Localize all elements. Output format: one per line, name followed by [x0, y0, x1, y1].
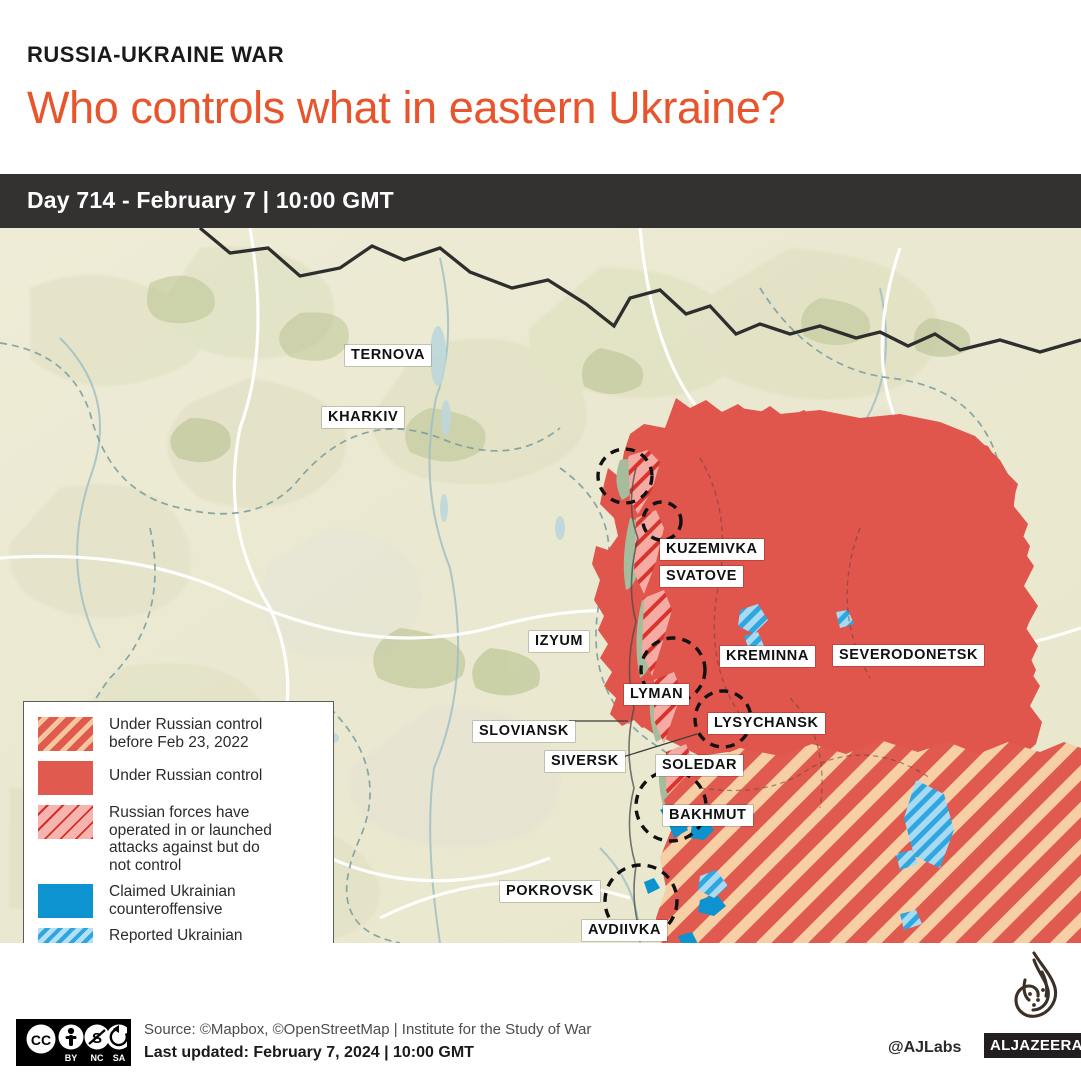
city-label-svatove[interactable]: SVATOVE — [660, 566, 743, 587]
city-label-pokrovsk[interactable]: POKROVSK — [500, 881, 600, 902]
cc-badge-icon: CC BY S NC SA — [20, 1022, 127, 1064]
legend-label-counteroffensive: Claimed Ukrainian counteroffensive — [109, 883, 236, 918]
infographic-page: RUSSIA-UKRAINE WAR Who controls what in … — [0, 0, 1081, 1081]
city-label-avdiivka[interactable]: AVDIIVKA — [582, 920, 667, 941]
page-title: Who controls what in eastern Ukraine? — [27, 82, 785, 134]
legend-item-russian-control: Under Russian control — [38, 760, 321, 795]
city-label-bakhmut[interactable]: BAKHMUT — [663, 805, 753, 826]
svg-text:SA: SA — [113, 1053, 126, 1063]
city-label-siversk[interactable]: SIVERSK — [545, 751, 625, 772]
legend-swatch-pre-feb-hatched — [38, 717, 93, 751]
legend-swatch-hatched-blue — [38, 928, 93, 943]
city-label-lysychansk[interactable]: LYSYCHANSK — [708, 713, 825, 734]
header: RUSSIA-UKRAINE WAR Who controls what in … — [0, 0, 1081, 174]
city-label-ternova[interactable]: TERNOVA — [345, 345, 431, 366]
map-legend: Under Russian control before Feb 23, 202… — [23, 701, 334, 943]
legend-swatch-hatched-pink — [38, 805, 93, 839]
legend-label-attacks: Russian forces have operated in or launc… — [109, 804, 272, 874]
map-canvas[interactable]: TERNOVA KHARKIV KUZEMIVKA SVATOVE IZYUM … — [0, 228, 1081, 943]
source-text: Source: ©Mapbox, ©OpenStreetMap | Instit… — [144, 1021, 591, 1038]
city-label-lyman[interactable]: LYMAN — [624, 684, 689, 705]
aljazeera-wordmark: ALJAZEERA — [984, 1033, 1081, 1058]
creative-commons-badge: CC BY S NC SA — [16, 1019, 131, 1066]
legend-item-pre-feb-2022: Under Russian control before Feb 23, 202… — [38, 716, 321, 751]
legend-item-counteroffensive: Claimed Ukrainian counteroffensive — [38, 883, 321, 918]
legend-label-pre-feb: Under Russian control before Feb 23, 202… — [109, 716, 262, 751]
legend-swatch-solid-blue — [38, 884, 93, 918]
kicker-label: RUSSIA-UKRAINE WAR — [27, 42, 284, 68]
svg-text:CC: CC — [31, 1032, 51, 1048]
day-status-bar: Day 714 - February 7 | 10:00 GMT — [0, 174, 1081, 228]
svg-text:BY: BY — [65, 1053, 78, 1063]
legend-item-attacks: Russian forces have operated in or launc… — [38, 804, 321, 874]
city-label-soledar[interactable]: SOLEDAR — [656, 755, 743, 776]
aljazeera-logo-icon — [1000, 950, 1068, 1032]
svg-text:NC: NC — [91, 1053, 104, 1063]
legend-swatch-solid-red — [38, 761, 93, 795]
city-label-sloviansk[interactable]: SLOVIANSK — [473, 721, 575, 742]
city-label-kharkiv[interactable]: KHARKIV — [322, 407, 404, 428]
ajlabs-handle[interactable]: @AJLabs — [888, 1039, 961, 1057]
legend-label-partisan: Reported Ukrainian partisan warfare — [109, 927, 243, 943]
day-status-text: Day 714 - February 7 | 10:00 GMT — [27, 187, 394, 214]
city-label-kreminna[interactable]: KREMINNA — [720, 646, 815, 667]
legend-label-russian-control: Under Russian control — [109, 760, 262, 785]
russian-controlled-main — [612, 408, 1040, 766]
legend-item-partisan: Reported Ukrainian partisan warfare — [38, 927, 321, 943]
last-updated-text: Last updated: February 7, 2024 | 10:00 G… — [144, 1044, 474, 1062]
city-label-kuzemivka[interactable]: KUZEMIVKA — [660, 539, 764, 560]
city-label-izyum[interactable]: IZYUM — [529, 631, 589, 652]
city-label-severodonetsk[interactable]: SEVERODONETSK — [833, 645, 984, 666]
